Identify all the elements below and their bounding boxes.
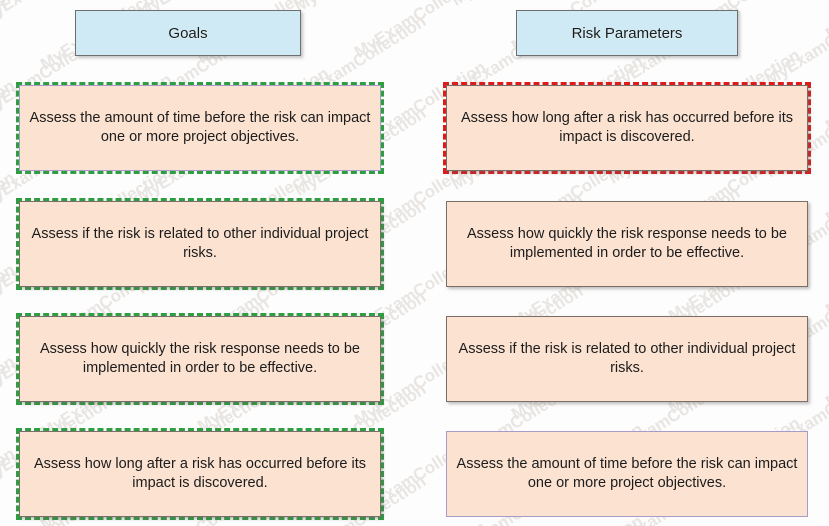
- column-header-goals-label: Goals: [168, 25, 207, 42]
- column-header-goals: Goals: [75, 10, 301, 56]
- risk-parameter-item-4-text: Assess the amount of time before the ris…: [453, 455, 801, 493]
- matching-exercise-canvas: MyExamCollectionMyExamCollectionMyExamCo…: [0, 0, 829, 526]
- goal-item-3-text: Assess how quickly the risk response nee…: [26, 340, 374, 378]
- column-goals: Goals Assess the amount of time before t…: [10, 0, 410, 526]
- goal-item-3[interactable]: Assess how quickly the risk response nee…: [19, 316, 381, 402]
- risk-parameter-item-2[interactable]: Assess how quickly the risk response nee…: [446, 201, 808, 287]
- goal-item-4[interactable]: Assess how long after a risk has occurre…: [19, 431, 381, 517]
- risk-parameter-item-2-text: Assess how quickly the risk response nee…: [453, 225, 801, 263]
- risk-parameter-item-4[interactable]: Assess the amount of time before the ris…: [446, 431, 808, 517]
- column-risk-parameters: Risk Parameters Assess how long after a …: [437, 0, 829, 526]
- goal-item-1-text: Assess the amount of time before the ris…: [26, 109, 374, 147]
- risk-parameter-item-1-text: Assess how long after a risk has occurre…: [453, 109, 801, 147]
- risk-parameter-item-3[interactable]: Assess if the risk is related to other i…: [446, 316, 808, 402]
- goal-item-2-text: Assess if the risk is related to other i…: [26, 225, 374, 263]
- risk-parameter-item-3-text: Assess if the risk is related to other i…: [453, 340, 801, 378]
- goal-item-1[interactable]: Assess the amount of time before the ris…: [19, 85, 381, 171]
- goal-item-4-text: Assess how long after a risk has occurre…: [26, 455, 374, 493]
- column-header-risk-parameters: Risk Parameters: [516, 10, 738, 56]
- goal-item-2[interactable]: Assess if the risk is related to other i…: [19, 201, 381, 287]
- column-header-risk-parameters-label: Risk Parameters: [572, 25, 683, 42]
- risk-parameter-item-1[interactable]: Assess how long after a risk has occurre…: [446, 85, 808, 171]
